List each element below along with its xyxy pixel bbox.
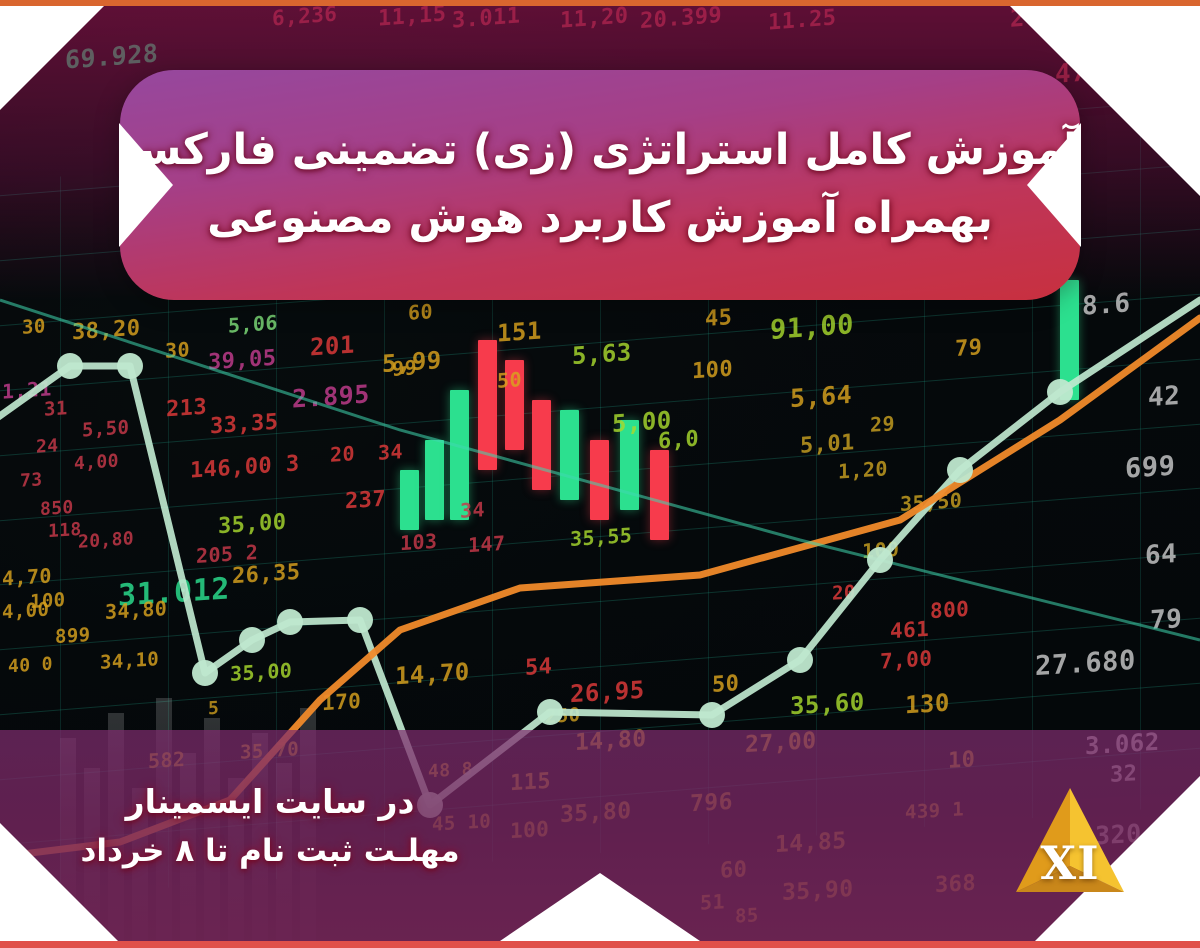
- cta-block: در سایت ایسمینار مهلـت ثبت نام تا ۸ خردا…: [60, 780, 480, 872]
- chart-series-line: [0, 300, 1200, 640]
- chart-data-point: [699, 702, 725, 728]
- chart-data-point: [57, 353, 83, 379]
- bottom-accent-stripe: [0, 941, 1200, 948]
- corner-triangle-bottom-center: [500, 873, 700, 941]
- corner-triangle-top-left: [0, 6, 104, 110]
- chart-data-point: [347, 607, 373, 633]
- chart-data-point: [239, 627, 265, 653]
- chart-data-point: [537, 699, 563, 725]
- logo-text: XI: [1000, 836, 1140, 890]
- chart-data-point: [1047, 379, 1073, 405]
- chart-data-point: [787, 647, 813, 673]
- cta-line-2: مهلـت ثبت نام تا ۸ خرداد: [60, 831, 480, 873]
- cta-line-1: در سایت ایسمینار: [60, 780, 480, 825]
- chart-data-point: [947, 457, 973, 483]
- banner-notch-right: [1027, 123, 1081, 247]
- chart-data-point: [192, 660, 218, 686]
- title-banner: آموزش کامل استراتژی (زی) تضمینی فارکس به…: [120, 70, 1080, 300]
- chart-data-point: [117, 353, 143, 379]
- title-line-2: بهمراه آموزش کاربرد هوش مصنوعی: [207, 192, 993, 246]
- chart-data-point: [867, 547, 893, 573]
- title-line-1: آموزش کامل استراتژی (زی) تضمینی فارکس: [122, 124, 1078, 178]
- brand-logo: XI: [1000, 782, 1140, 906]
- poster-canvas: 69.9286,23611,153.01111,2020.39911.2520.…: [0, 0, 1200, 948]
- banner-notch-left: [119, 123, 173, 247]
- chart-data-point: [277, 609, 303, 635]
